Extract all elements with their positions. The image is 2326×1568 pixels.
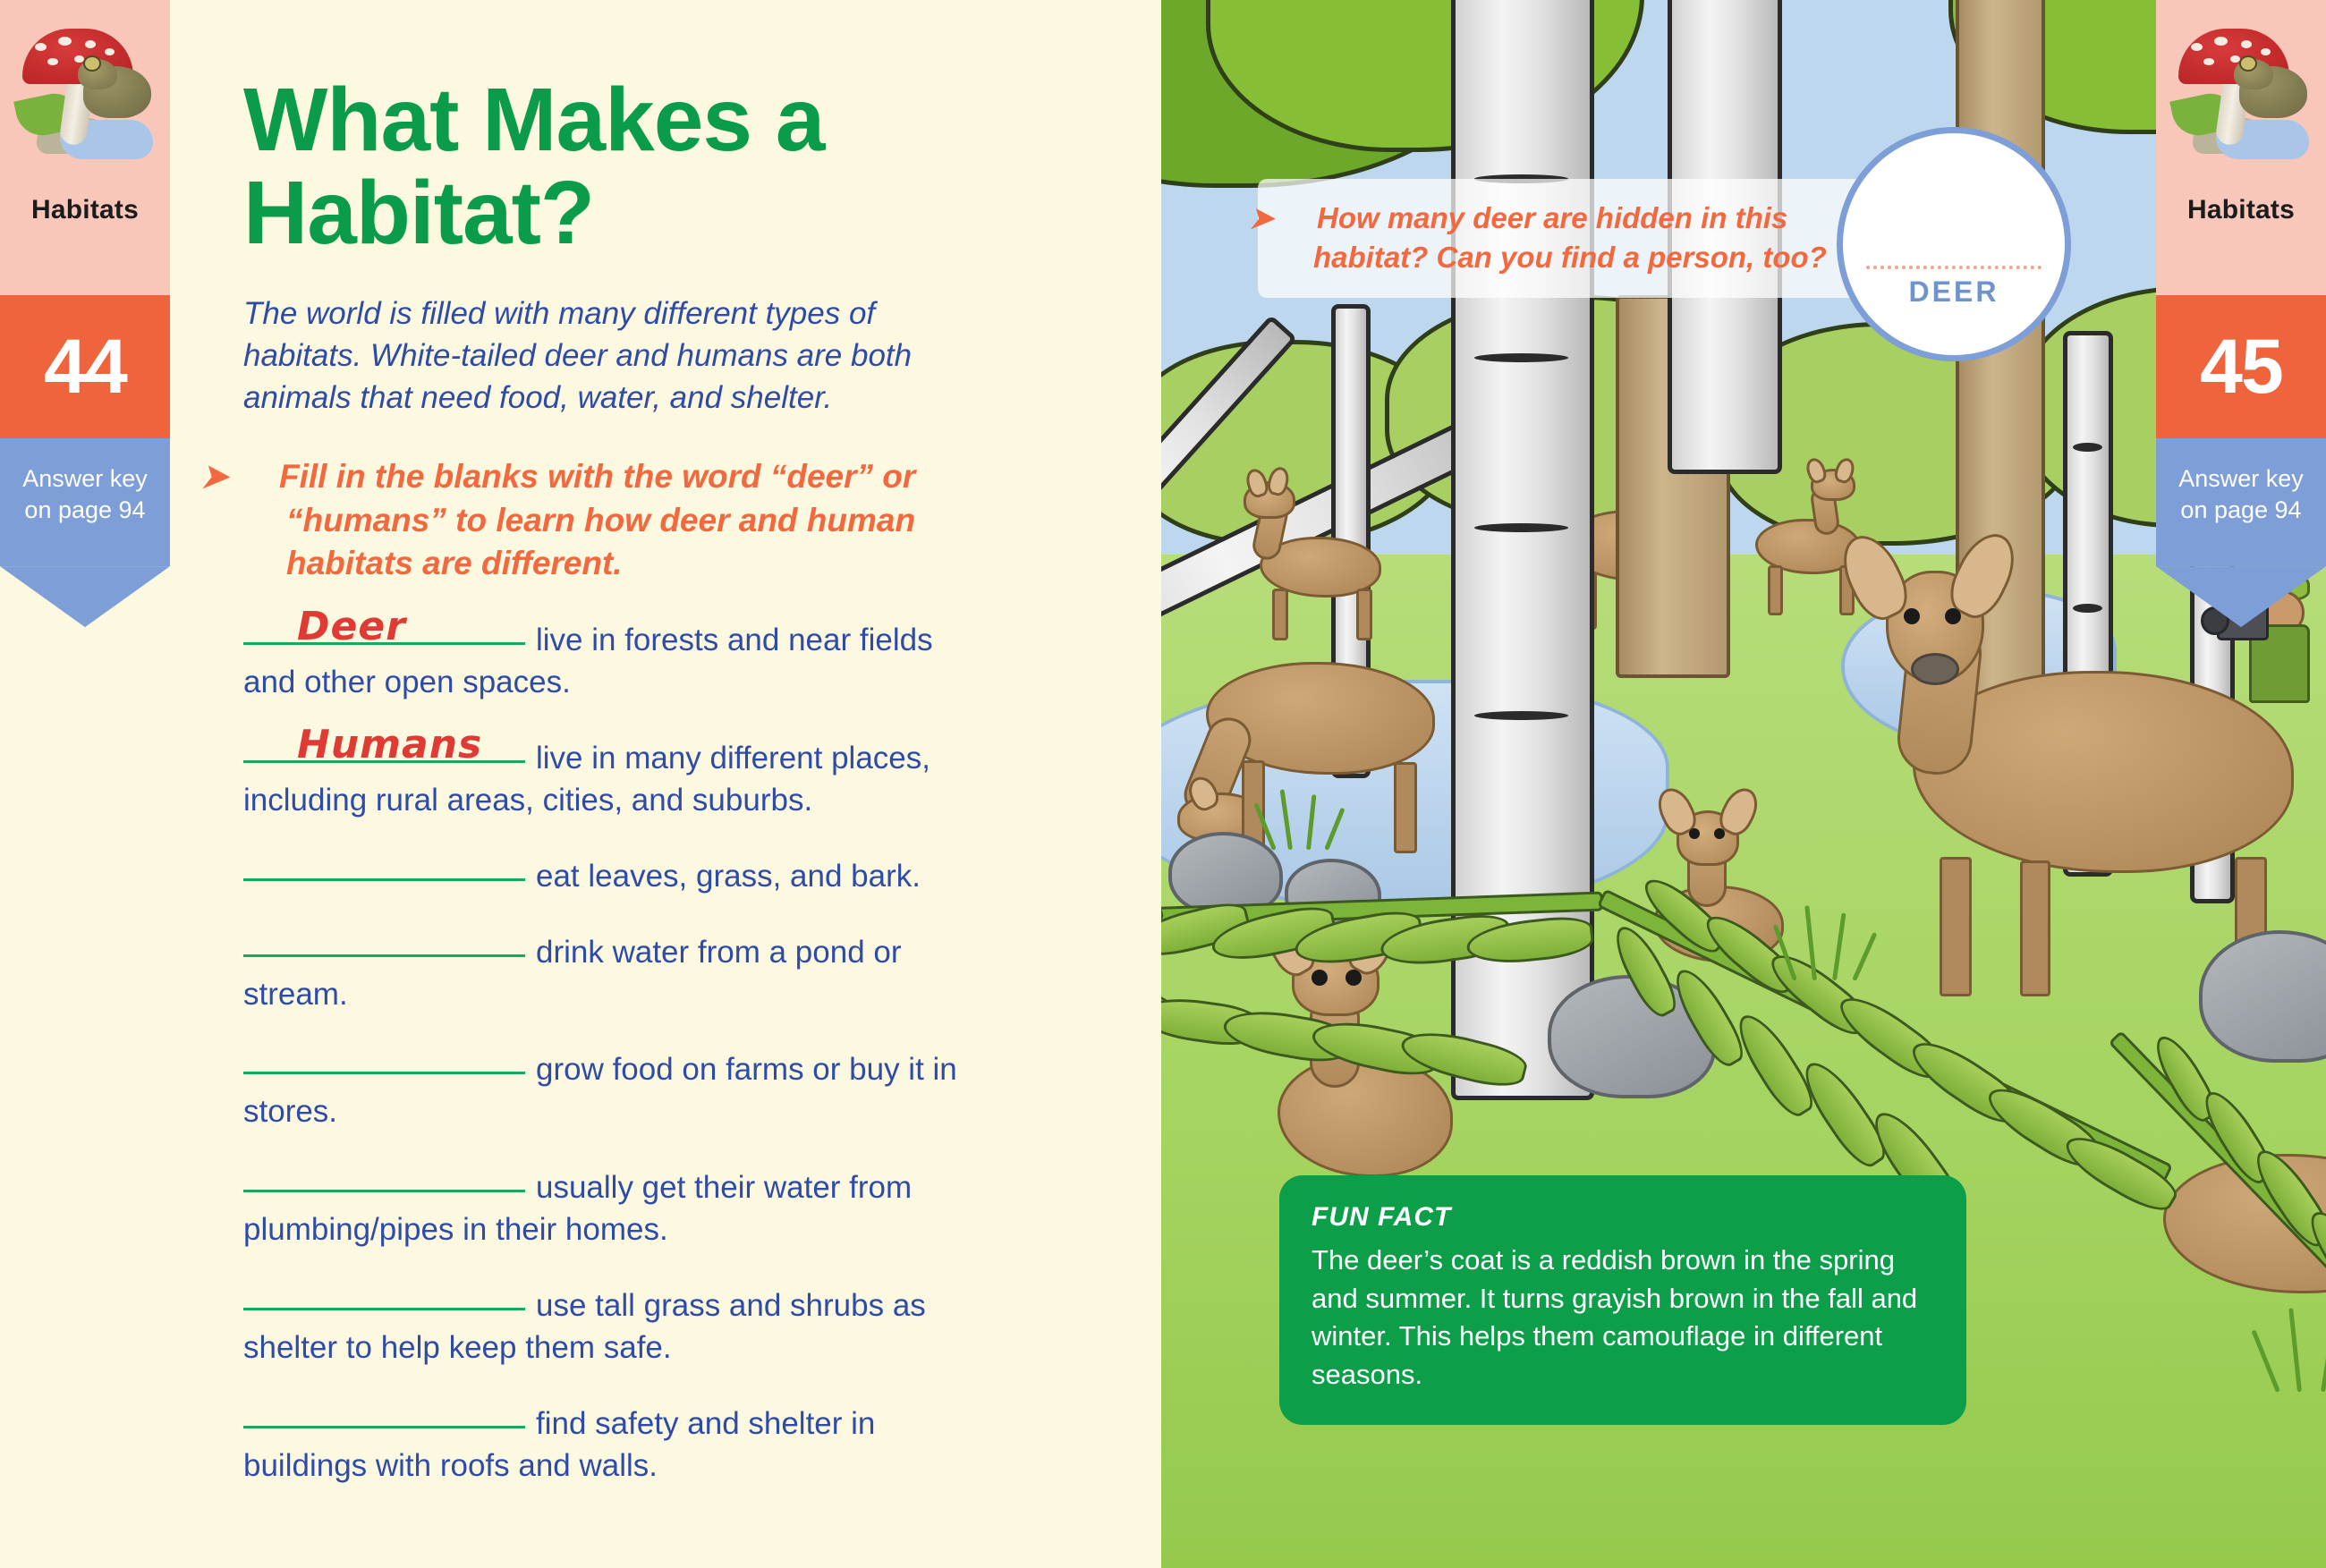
answer-blank-line[interactable] xyxy=(243,1308,525,1310)
sidebar-tab-left[interactable]: Habitats 44 Answer key on page 94 xyxy=(0,0,170,566)
deer-eye-right xyxy=(1945,608,1961,624)
blank-sentence: usually get their water from plumbing/pi… xyxy=(243,1170,912,1247)
answer-blank-line[interactable]: Humans xyxy=(243,760,525,763)
answer-blank-line[interactable] xyxy=(243,1426,525,1428)
count-circle-label: DEER xyxy=(1909,275,1999,309)
blank-sentence: find safety and shelter in buildings wit… xyxy=(243,1406,875,1483)
tab-section-header: Habitats xyxy=(2156,0,2326,295)
fun-fact-body: The deer’s coat is a reddish brown in th… xyxy=(1312,1242,1934,1394)
blank-row[interactable]: use tall grass and shrubs as shelter to … xyxy=(243,1285,986,1369)
blank-row[interactable]: Humanslive in many different places, inc… xyxy=(243,738,986,822)
mushroom-frog-icon xyxy=(13,13,157,191)
grass-tuft-2 xyxy=(1787,903,1877,980)
count-dotted-line xyxy=(1866,266,2042,269)
page-title: What Makes a Habitat? xyxy=(243,73,986,259)
answer-key-note-right: Answer key on page 94 xyxy=(2156,438,2326,566)
instruction-body: Fill in the blanks with the word “deer” … xyxy=(279,458,915,582)
question-callout: ➤How many deer are hidden in this habita… xyxy=(1258,179,1931,298)
tab-section-label: Habitats xyxy=(31,195,139,225)
arrow-icon: ➤ xyxy=(1281,199,1317,238)
mushroom-frog-icon xyxy=(2169,13,2313,191)
blank-sentence: drink water from a pond or stream. xyxy=(243,935,902,1012)
deer-nose xyxy=(1911,653,1959,685)
handwritten-answer: Deer xyxy=(297,601,406,654)
handwritten-answer: Humans xyxy=(297,719,482,772)
callout-text: How many deer are hidden in this habitat… xyxy=(1313,201,1827,274)
blank-row[interactable]: drink water from a pond or stream. xyxy=(243,932,986,1016)
workbook-spread: ➤How many deer are hidden in this habita… xyxy=(0,0,2326,1568)
answer-blank-line[interactable] xyxy=(243,878,525,881)
tab-section-label: Habitats xyxy=(2187,195,2295,225)
deer-eye-left xyxy=(1904,608,1920,624)
blank-row[interactable]: usually get their water from plumbing/pi… xyxy=(243,1167,986,1251)
blank-row[interactable]: find safety and shelter in buildings wit… xyxy=(243,1403,986,1487)
answer-blank-line[interactable] xyxy=(243,1072,525,1074)
blank-row[interactable]: eat leaves, grass, and bark. xyxy=(243,856,986,898)
sidebar-tab-right[interactable]: Habitats 45 Answer key on page 94 xyxy=(2156,0,2326,566)
habitat-illustration: ➤How many deer are hidden in this habita… xyxy=(1161,0,2326,1568)
page-number-left: 44 xyxy=(0,295,170,438)
blank-sentence: grow food on farms or buy it in stores. xyxy=(243,1052,957,1129)
blank-row[interactable]: grow food on farms or buy it in stores. xyxy=(243,1049,986,1133)
blank-list: Deerlive in forests and near fields and … xyxy=(243,620,986,1487)
blank-row[interactable]: Deerlive in forests and near fields and … xyxy=(243,620,986,704)
blank-sentence: use tall grass and shrubs as shelter to … xyxy=(243,1288,926,1365)
intro-paragraph: The world is filled with many different … xyxy=(243,293,937,420)
left-page-content: What Makes a Habitat? The world is fille… xyxy=(243,0,986,1487)
answer-blank-line[interactable]: Deer xyxy=(243,642,525,645)
grass-tuft-3 xyxy=(2271,1306,2326,1392)
fun-fact-box: FUN FACT The deer’s coat is a reddish br… xyxy=(1279,1175,1966,1425)
arrow-icon: ➤ xyxy=(243,455,279,499)
answer-blank-line[interactable] xyxy=(243,954,525,957)
instruction-text: ➤Fill in the blanks with the word “deer”… xyxy=(243,455,980,586)
fun-fact-title: FUN FACT xyxy=(1312,1202,1934,1233)
tab-section-header: Habitats xyxy=(0,0,170,295)
page-number-right: 45 xyxy=(2156,295,2326,438)
deer-count-circle[interactable]: DEER xyxy=(1837,127,2071,361)
grass-tuft-1 xyxy=(1269,787,1349,850)
answer-key-note-left: Answer key on page 94 xyxy=(0,438,170,566)
answer-blank-line[interactable] xyxy=(243,1190,525,1192)
deer-background-left xyxy=(1242,465,1385,635)
blank-sentence: eat leaves, grass, and bark. xyxy=(536,859,921,894)
